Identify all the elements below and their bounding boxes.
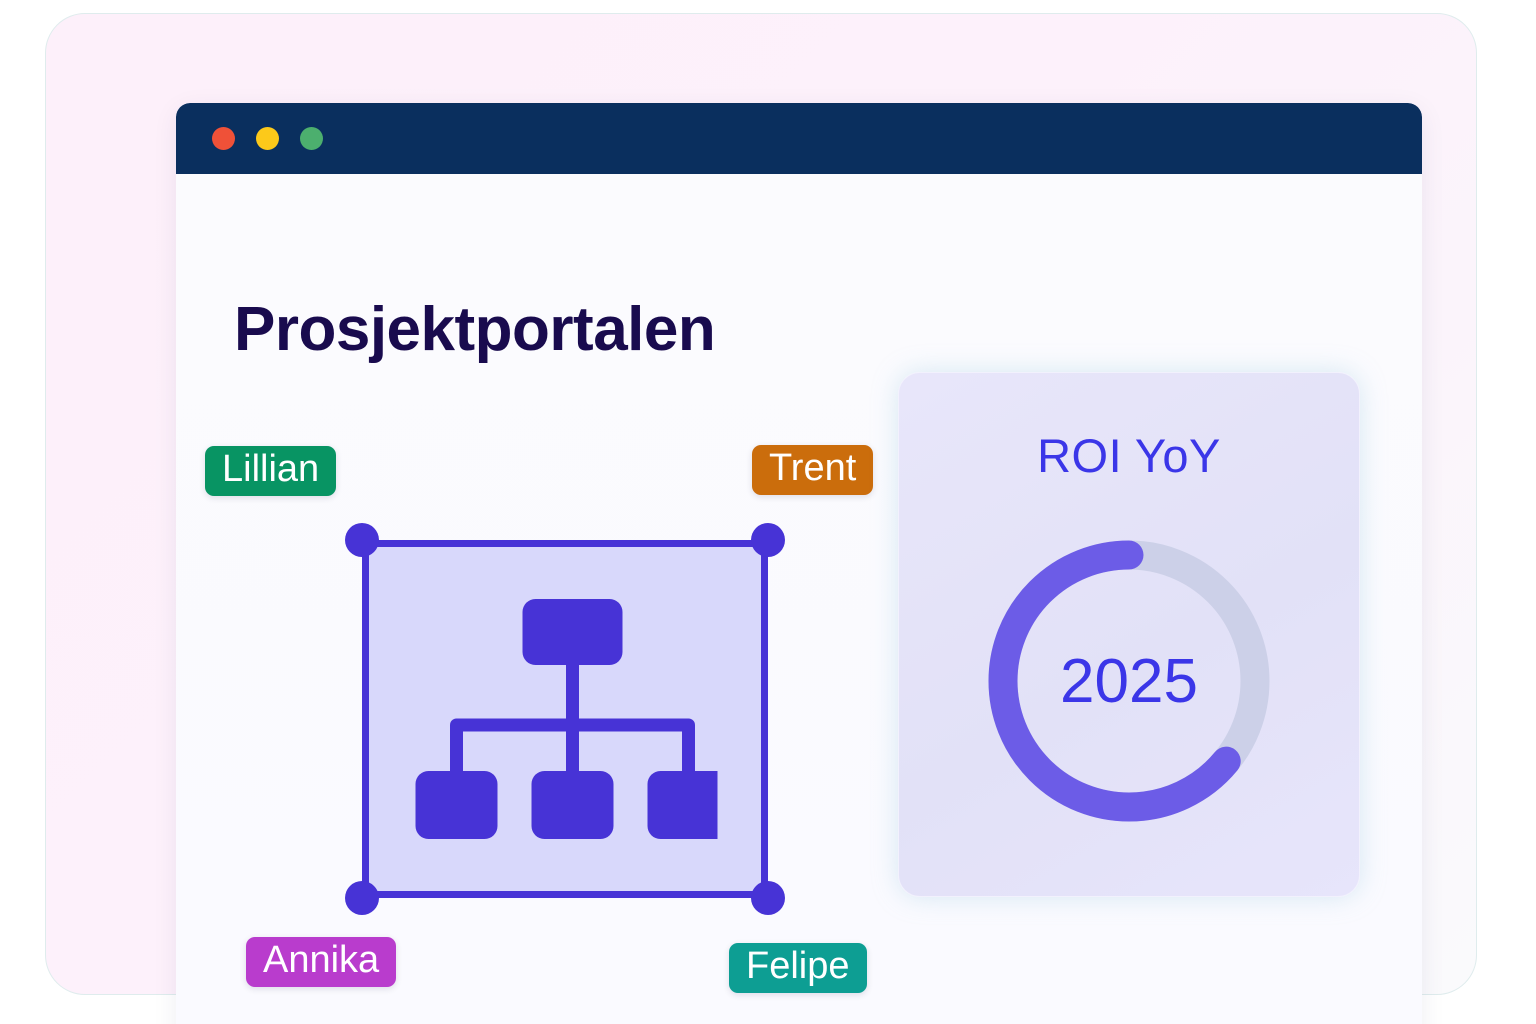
- collaborator-label: Lillian: [222, 450, 319, 488]
- selection-handle-bottom-left[interactable]: [345, 881, 379, 915]
- roi-metric-card[interactable]: ROI YoY 2025: [898, 372, 1360, 897]
- collaborator-tag-trent[interactable]: Trent: [752, 445, 873, 495]
- window-controls: [212, 127, 323, 150]
- collaborator-tag-lillian[interactable]: Lillian: [205, 446, 336, 496]
- org-chart-icon: [413, 599, 718, 839]
- minimize-button[interactable]: [256, 127, 279, 150]
- close-button[interactable]: [212, 127, 235, 150]
- screenshot-root: Prosjektportalen Lillian Trent Annika Fe…: [0, 0, 1536, 1024]
- roi-donut-chart: 2025: [984, 536, 1274, 826]
- selection-handle-top-left[interactable]: [345, 523, 379, 557]
- maximize-button[interactable]: [300, 127, 323, 150]
- selection-handle-top-right[interactable]: [751, 523, 785, 557]
- browser-titlebar: [176, 103, 1422, 174]
- collaborator-tag-felipe[interactable]: Felipe: [729, 943, 867, 993]
- page-title: Prosjektportalen: [234, 294, 715, 365]
- collaborator-label: Felipe: [746, 947, 850, 985]
- collaborator-label: Annika: [263, 941, 379, 979]
- org-chart-selection[interactable]: [362, 540, 768, 898]
- collaborator-label: Trent: [769, 449, 856, 487]
- donut-center-label: 2025: [984, 536, 1274, 826]
- collaborator-tag-annika[interactable]: Annika: [246, 937, 396, 987]
- selection-handle-bottom-right[interactable]: [751, 881, 785, 915]
- browser-viewport: Prosjektportalen Lillian Trent Annika Fe…: [176, 174, 1422, 1024]
- browser-window: Prosjektportalen Lillian Trent Annika Fe…: [176, 103, 1422, 1024]
- metric-card-title: ROI YoY: [899, 428, 1359, 483]
